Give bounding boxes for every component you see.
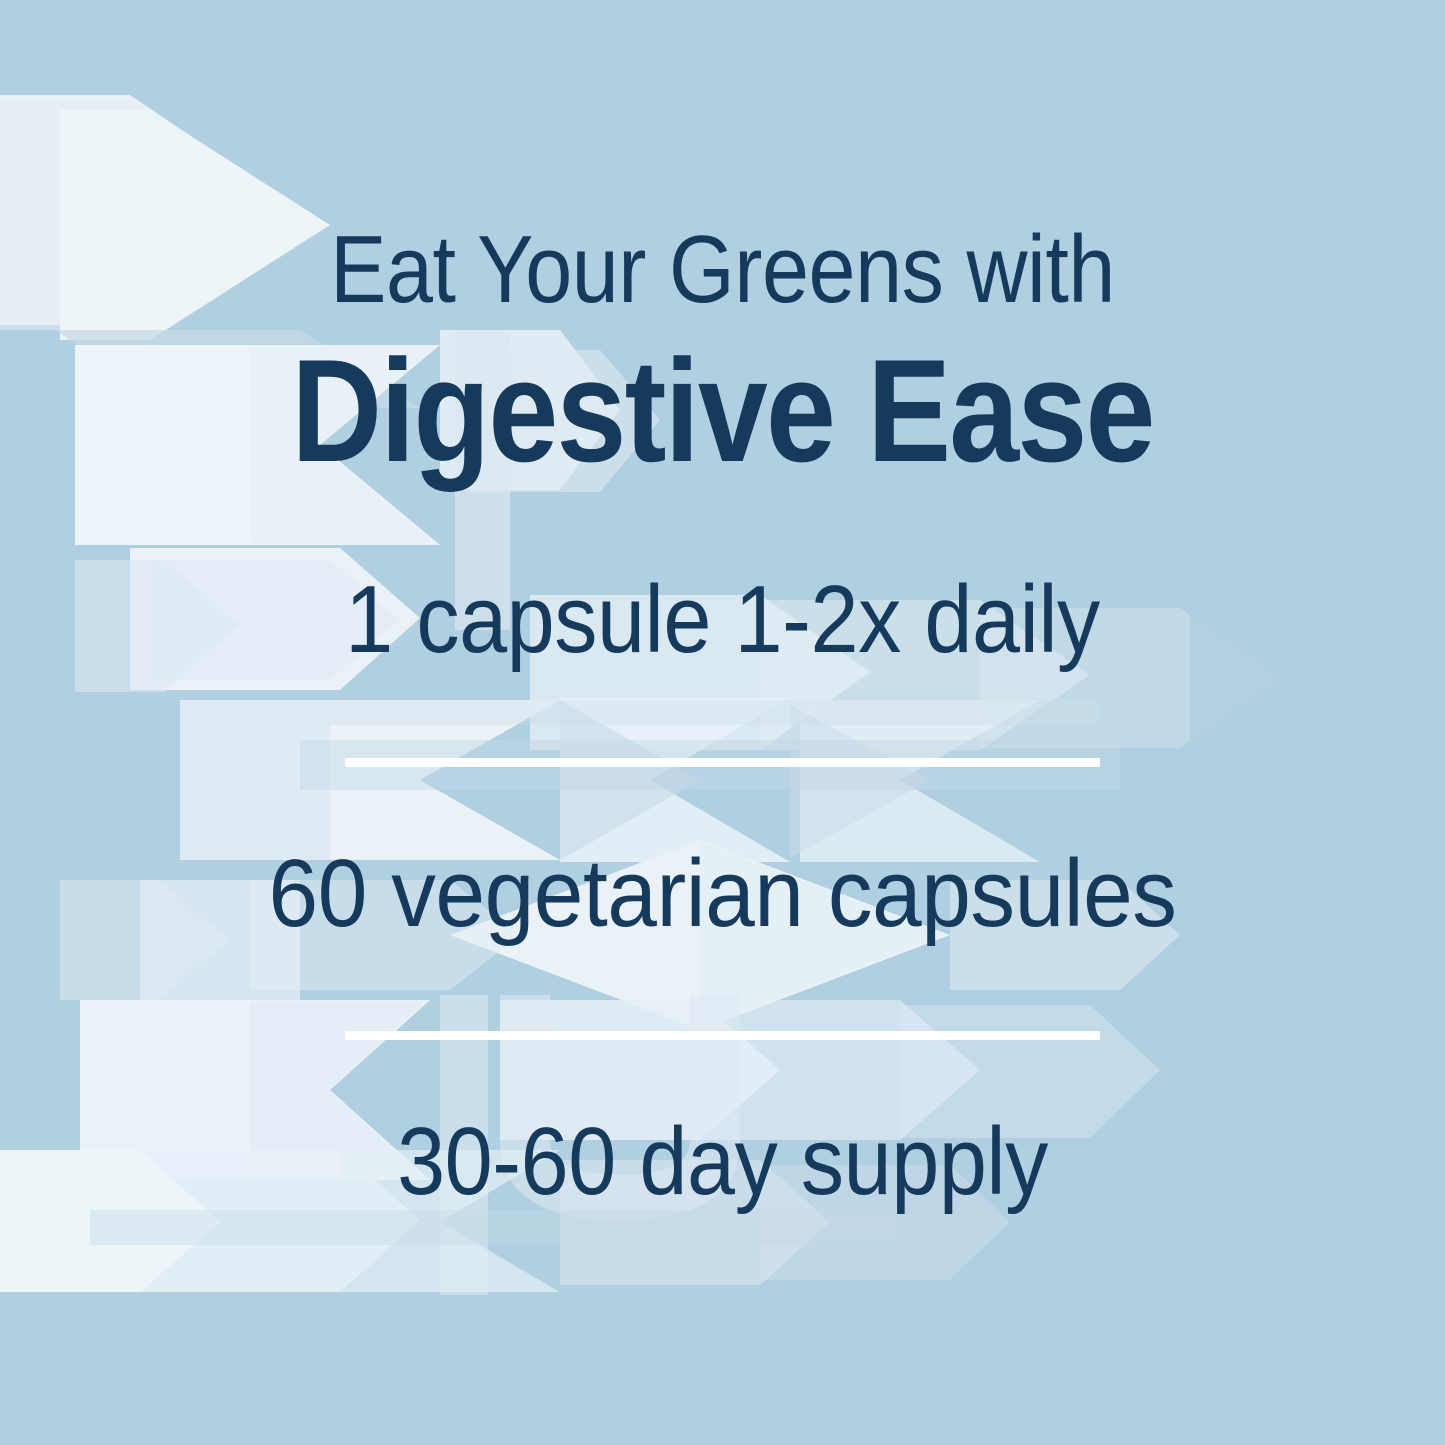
product-info-graphic: Eat Your Greens with Digestive Ease 1 ca…	[0, 0, 1445, 1445]
copy-stack: Eat Your Greens with Digestive Ease 1 ca…	[0, 0, 1445, 1445]
page-title: Digestive Ease	[101, 338, 1344, 484]
divider-1	[345, 758, 1100, 767]
fact-dosage: 1 capsule 1-2x daily	[72, 572, 1373, 668]
fact-count: 60 vegetarian capsules	[51, 846, 1395, 942]
divider-2	[345, 1031, 1100, 1040]
fact-supply: 30-60 day supply	[72, 1114, 1373, 1210]
eyebrow-text: Eat Your Greens with	[87, 222, 1359, 318]
